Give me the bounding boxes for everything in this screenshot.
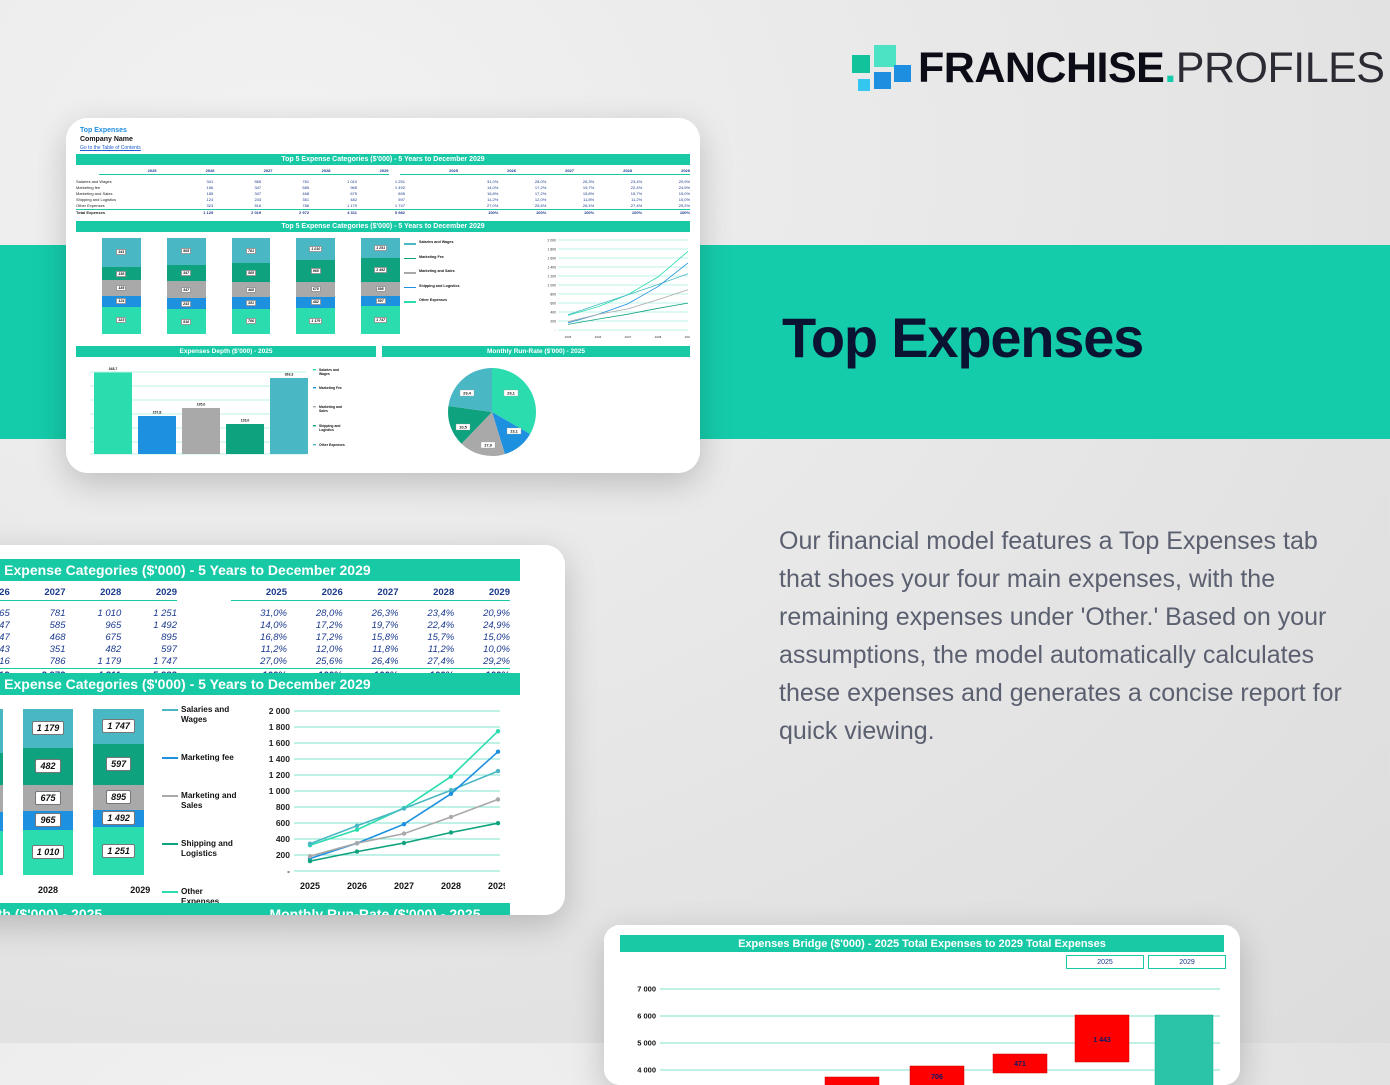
svg-text:2029: 2029 [685,335,690,339]
svg-text:2029: 2029 [488,881,505,891]
logo-squares-icon [852,42,904,94]
stacked-bar-x-labels: 2027 2028 2029 [0,885,154,895]
stacked-bar-chart: 341 156 185 124 323 565 347 347 243 516 … [76,234,486,344]
svg-text:2025: 2025 [300,881,320,891]
band-categories-table: Top 5 Expense Categories ($'000) - 5 Yea… [76,154,690,165]
svg-text:400: 400 [550,311,556,315]
top-screenshot-card: Top Expenses Company Name Go to the Tabl… [66,118,700,473]
col-year: 2028 [273,168,331,175]
svg-text:2028: 2028 [441,881,461,891]
stacked-bar-column: 786 351 468 585 781 [0,709,3,875]
svg-text:Other Expenses: Other Expenses [319,443,345,447]
svg-text:471: 471 [1014,1061,1026,1068]
stacked-bar-column: 1 010 965 675 482 1 179 [296,238,335,334]
band-categories-table: Top 5 Expense Categories ($'000) - 5 Yea… [0,559,520,581]
svg-text:2027: 2027 [394,881,414,891]
svg-text:2 000: 2 000 [269,706,291,716]
svg-text:800: 800 [276,802,290,812]
stacked-bar-column: 1 179 482 675 965 1 010 [23,709,74,875]
svg-text:2026: 2026 [347,881,367,891]
col-year: 2027 [10,587,66,601]
legend-2029: 2029 [1148,955,1226,969]
svg-text:10,5: 10,5 [459,425,468,430]
stacked-bar-column: 341 156 185 124 323 [102,238,141,334]
svg-text:800: 800 [550,293,556,297]
table-header: 2026 2027 2028 2029 2025 2026 2027 2028 … [0,587,510,601]
svg-text:400: 400 [276,834,290,844]
band-monthly-runrate: Monthly Run-Rate ($'000) - 2025 [240,903,510,915]
brand-dot: . [1164,44,1175,92]
svg-text:Logistics: Logistics [319,428,334,432]
expense-table: 2025 2026 2027 2028 2029 2025 2026 2027 … [76,168,690,216]
table-row: 565 781 1 010 1 251 31,0% 28,0% 26,3% 23… [0,608,510,620]
legend-label: Marketing and Sales [181,791,240,811]
legend-label: Marketing and Sales [419,269,455,273]
col-pct-year: 2026 [458,168,516,175]
svg-text:2 000: 2 000 [548,239,557,243]
col-year: 2028 [66,587,122,601]
col-pct-year: 2029 [454,587,510,601]
stacked-bar-chart: 786 351 468 585 781 1 179 482 675 965 1 … [0,699,240,899]
svg-text:126,0: 126,0 [241,419,250,423]
left-screenshot-card: Top 5 Expense Categories ($'000) - 5 Yea… [0,545,565,915]
sheet-title: Top Expenses [80,126,127,135]
sheet-company: Company Name [80,135,133,144]
band-categories-chart: Top 5 Expense Categories ($'000) - 5 Yea… [76,221,690,232]
table-total-row: Total Expenses 1 129 2 019 2 972 4 311 5… [76,209,690,216]
svg-text:-: - [555,329,556,333]
svg-text:2027: 2027 [625,335,632,339]
svg-text:600: 600 [550,302,556,306]
stacked-bar-column: 1 747 597 895 1 492 1 251 [93,709,144,875]
y-tick: 6 000 [637,1012,656,1021]
col-year: 2026 [0,587,10,601]
col-pct-year: 2025 [231,587,287,601]
line-chart-mini: 2 0001 800 1 6001 400 1 2001 000 800600 … [536,234,690,344]
line-chart: 2 0001 8001 600 1 4001 2001 000 80060040… [250,699,505,899]
band-expenses-bridge: Expenses Bridge ($'000) - 2025 Total Exp… [620,935,1224,952]
svg-text:2026: 2026 [595,335,602,339]
band-expenses-depth: ses Depth ($'000) - 2025 [0,903,249,915]
svg-text:706: 706 [931,1074,943,1081]
svg-text:17,9: 17,9 [484,443,493,448]
row-label: Other Expenses [76,203,165,209]
expense-table: 2026 2027 2028 2029 2025 2026 2027 2028 … [0,587,510,665]
brand-logo: FRANCHISE.PROFILES [852,42,1384,94]
bridge-legend: 2025 2029 [1062,955,1226,969]
svg-text:157,8: 157,8 [153,411,162,415]
legend-label: Marketing fee [181,753,234,763]
col-year: 2027 [215,168,273,175]
toc-link[interactable]: Go to the Table of Contents [80,145,141,152]
svg-text:Wages: Wages [319,372,330,376]
svg-text:195,0: 195,0 [197,403,206,407]
svg-text:1 400: 1 400 [548,266,557,270]
y-tick: 5 000 [637,1039,656,1048]
y-tick: 4 000 [637,1066,656,1075]
stacked-bar-column: 1 251 1 492 895 597 1 747 [361,238,400,334]
svg-text:1 600: 1 600 [269,738,291,748]
svg-text:2028: 2028 [655,335,662,339]
band-expenses-depth: Expenses Depth ($'000) - 2025 [76,346,376,357]
svg-text:29,1: 29,1 [507,391,516,396]
svg-text:1 800: 1 800 [548,248,557,252]
legend-2025: 2025 [1066,955,1144,969]
svg-text:1 200: 1 200 [548,275,557,279]
band-monthly-runrate: Monthly Run-Rate ($'000) - 2025 [382,346,690,357]
legend-label: Shipping and Logistics [419,284,460,288]
col-pct-year: 2029 [632,168,690,175]
waterfall-chart: 7 000 6 000 5 000 4 000 706 471 1 443 [620,969,1226,1085]
svg-text:2025: 2025 [565,335,572,339]
col-pct-year: 2026 [287,587,343,601]
col-pct-year: 2028 [399,587,455,601]
svg-text:363,3: 363,3 [285,373,294,377]
svg-text:1 600: 1 600 [548,257,557,261]
legend-label: Other Expenses [419,298,447,302]
bottom-screenshot-card: Expenses Bridge ($'000) - 2025 Total Exp… [604,925,1240,1085]
brand-part-one: FRANCHISE [918,44,1164,92]
stacked-bars: 786 351 468 585 781 1 179 482 675 965 1 … [0,709,154,875]
col-pct-year: 2028 [574,168,632,175]
col-pct-year: 2027 [343,587,399,601]
table-row: 347 468 675 895 16,8% 17,2% 15,8% 15,7% … [0,632,510,644]
svg-text:600: 600 [276,818,290,828]
stacked-bar-column: 565 347 347 243 516 [167,238,206,334]
svg-text:1 200: 1 200 [269,770,291,780]
col-year: 2029 [121,587,177,601]
col-year: 2029 [331,168,389,175]
table-row: 516 786 1 179 1 747 27,0% 25,6% 26,4% 27… [0,656,510,668]
legend-label: Shipping and Logistics [181,839,240,859]
row-label: Total Expenses [76,210,165,216]
col-pct-year: 2025 [400,168,458,175]
svg-text:200: 200 [276,850,290,860]
svg-text:-: - [287,866,290,876]
brand-wordmark: FRANCHISE.PROFILES [918,47,1384,90]
svg-text:200: 200 [550,320,556,324]
svg-text:29,4: 29,4 [463,391,472,396]
legend-label: Marketing Fee [419,255,444,259]
table-row: Other Expenses 323 516 786 1 179 1 747 2… [76,203,690,209]
table-row: 243 351 482 597 11,2% 12,0% 11,8% 11,2% … [0,644,510,656]
monthly-runrate-pie-chart: 29,1 13,1 17,9 10,5 29,4 [382,360,690,462]
svg-text:1 000: 1 000 [269,786,291,796]
col-year: 2025 [99,168,157,175]
col-pct-year: 2027 [516,168,574,175]
body-paragraph: Our financial model features a Top Expen… [779,522,1344,750]
band-categories-chart: Top 5 Expense Categories ($'000) - 5 Yea… [0,673,520,695]
expenses-depth-chart: 348,7157,8 195,0126,0363,3 Salaries andW… [76,360,376,462]
svg-text:Sales: Sales [319,409,328,413]
brand-part-two: PROFILES [1176,44,1385,92]
svg-text:Marketing Fee: Marketing Fee [319,386,342,390]
col-year: 2026 [157,168,215,175]
stacked-bar-column: 781 585 468 351 786 [232,238,271,334]
svg-text:1 400: 1 400 [269,754,291,764]
svg-text:13,1: 13,1 [510,429,519,434]
table-row: 347 585 965 1 492 14,0% 17,2% 19,7% 22,4… [0,620,510,632]
chart-legend: Salaries and Wages Marketing Fee Marketi… [404,240,484,313]
stacked-bars: 341 156 185 124 323 565 347 347 243 516 … [102,238,400,334]
page-title: Top Expenses [782,305,1143,370]
svg-text:1 800: 1 800 [269,722,291,732]
y-tick: 7 000 [637,985,656,994]
chart-legend: Salaries and Wages Marketing fee Marketi… [162,705,240,915]
legend-label: Salaries and Wages [181,705,240,725]
legend-label: Salaries and Wages [419,240,454,244]
svg-text:348,7: 348,7 [109,367,118,371]
svg-text:1 000: 1 000 [548,284,557,288]
